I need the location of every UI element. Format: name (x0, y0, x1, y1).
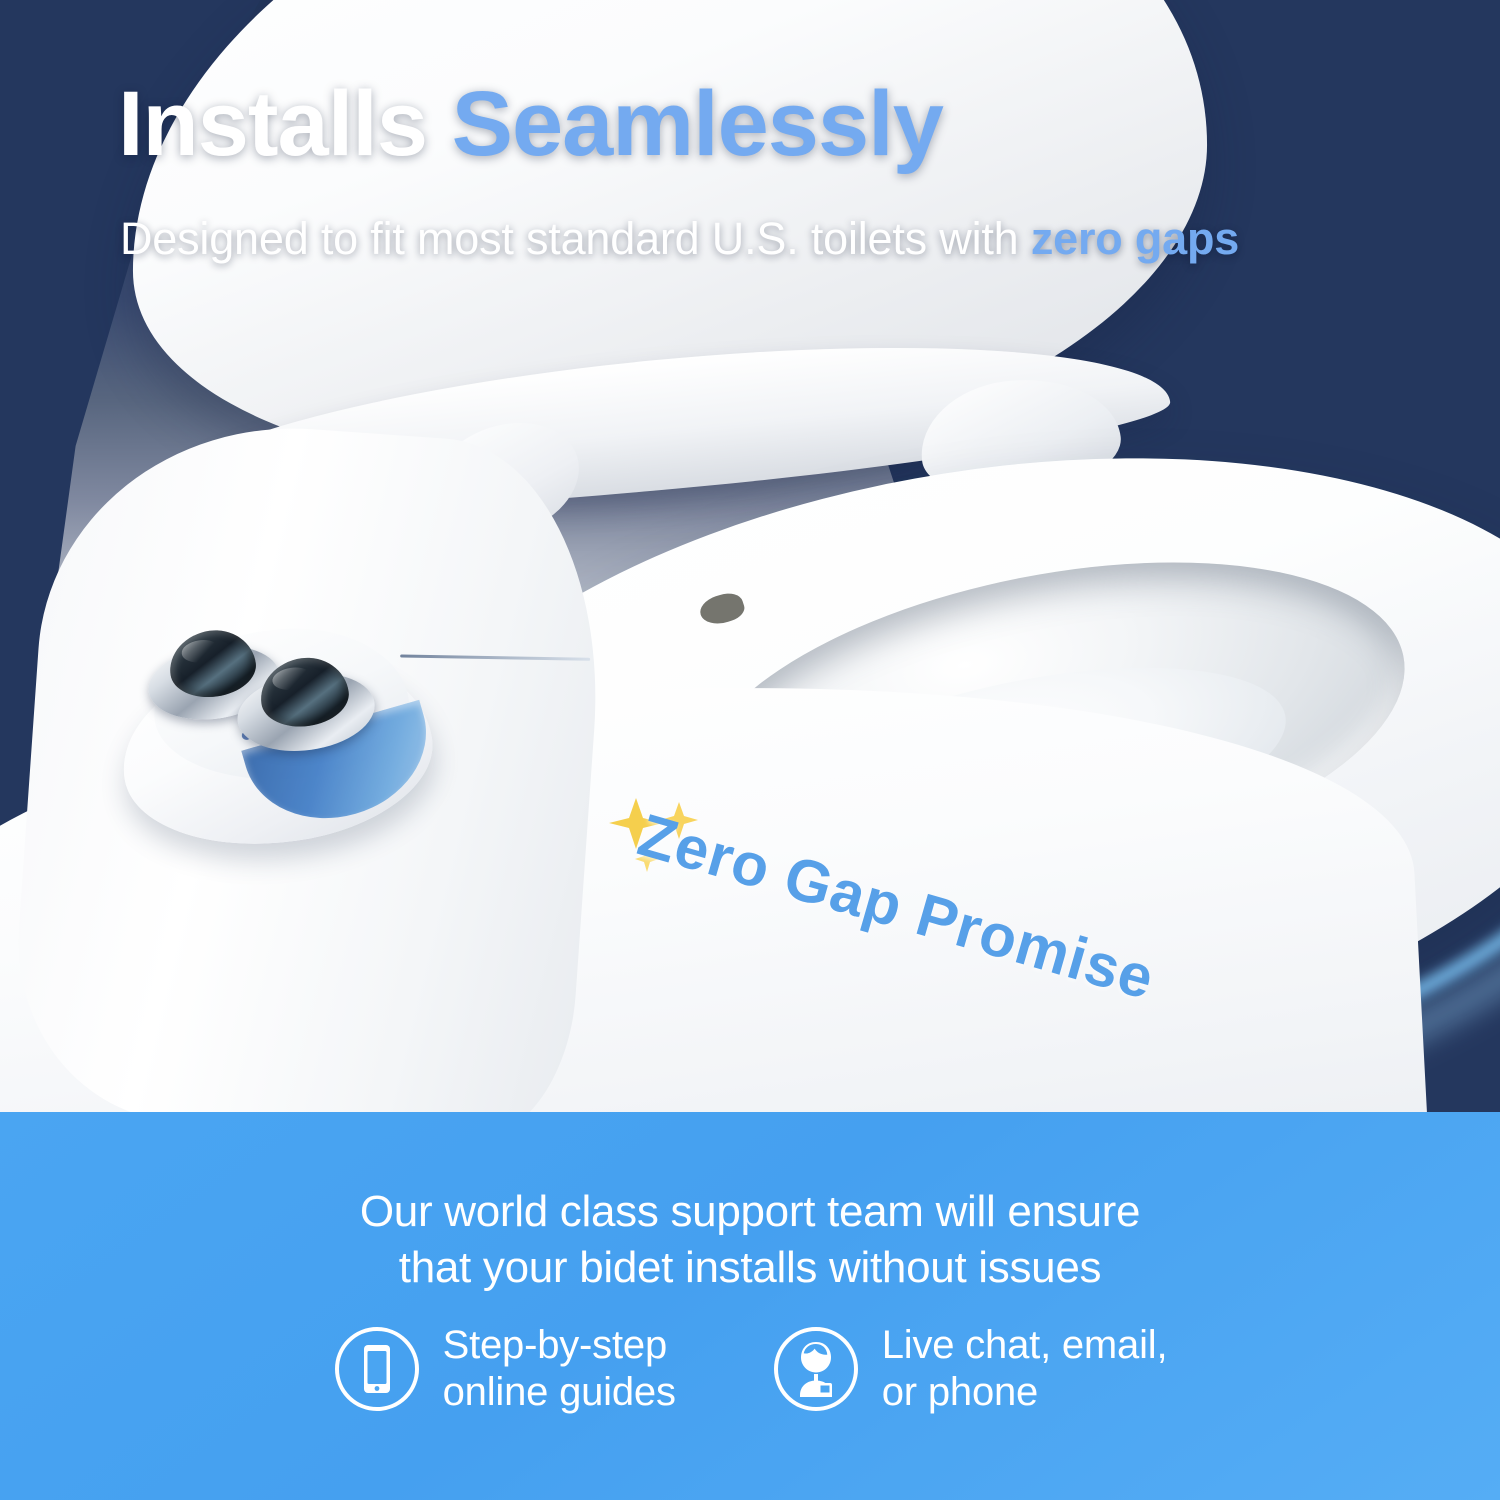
support-panel-heading: Our world class support team will ensure… (0, 1184, 1500, 1297)
support-feature-contact-channels: Live chat, email, or phone (772, 1322, 1168, 1416)
bidet-attachment: bidet-swoosh-logo (106, 599, 455, 871)
page-subtitle: Designed to fit most standard U.S. toile… (120, 213, 1239, 265)
page-title: Installs Seamlessly (118, 78, 943, 170)
support-feature-contact-channels-label: Live chat, email, or phone (882, 1322, 1168, 1416)
support-heading-line-1: Our world class support team will ensure (0, 1184, 1500, 1240)
support-feature-online-guides-label: Step-by-step online guides (443, 1322, 676, 1416)
headline-part-one: Installs (118, 73, 452, 175)
subtitle-text: Designed to fit most standard U.S. toile… (120, 213, 1031, 264)
product-photo-area: bidet-swoosh-logo Zero Gap Promise Insta… (0, 0, 1500, 1115)
smartphone-icon (333, 1325, 421, 1413)
product-marketing-poster: bidet-swoosh-logo Zero Gap Promise Insta… (0, 0, 1500, 1500)
support-feature-online-guides: Step-by-step online guides (333, 1322, 676, 1416)
support-agent-icon (772, 1325, 860, 1413)
support-panel: Our world class support team will ensure… (0, 1112, 1500, 1500)
subtitle-accent: zero gaps (1031, 213, 1239, 264)
support-heading-line-2: that your bidet installs without issues (0, 1240, 1500, 1296)
support-feature-list: Step-by-step online guides Live chat, e (0, 1322, 1500, 1416)
headline-part-two: Seamlessly (452, 73, 943, 175)
